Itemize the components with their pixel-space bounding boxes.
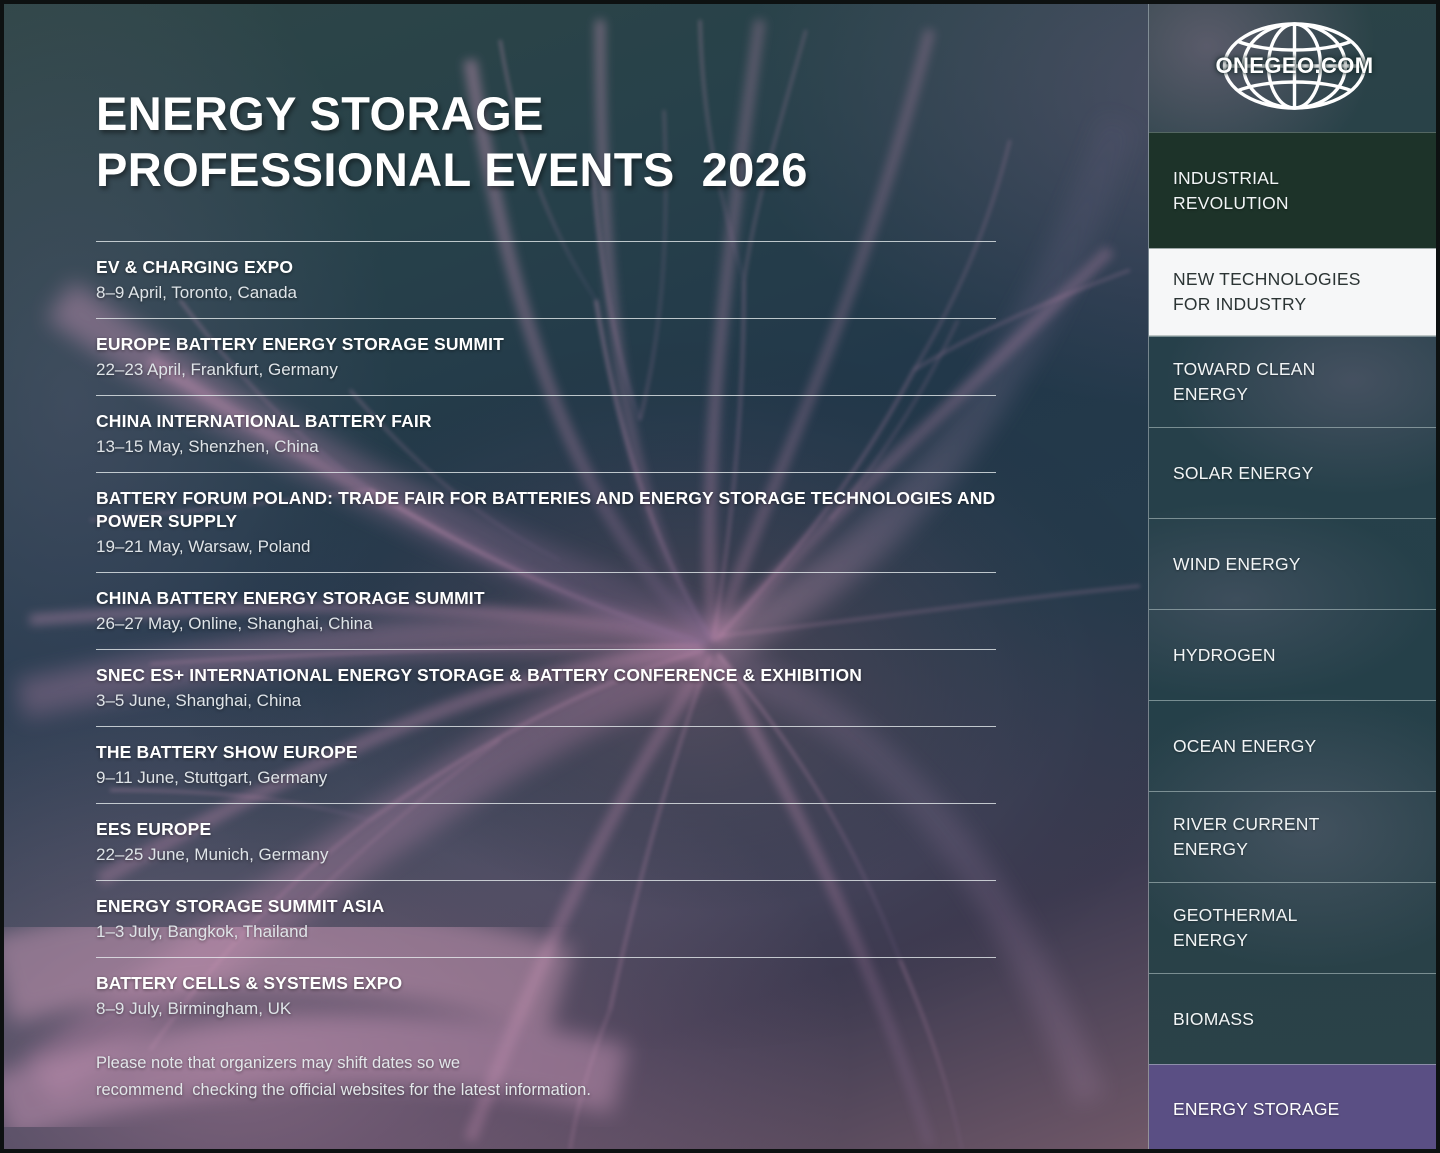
event-name: CHINA INTERNATIONAL BATTERY FAIR xyxy=(96,410,996,433)
event-item[interactable]: BATTERY CELLS & SYSTEMS EXPO 8–9 July, B… xyxy=(96,957,996,1034)
event-date: 8–9 April, Toronto, Canada xyxy=(96,281,996,305)
event-date: 1–3 July, Bangkok, Thailand xyxy=(96,920,996,944)
event-name: EV & CHARGING EXPO xyxy=(96,256,996,279)
event-name: BATTERY FORUM POLAND: TRADE FAIR FOR BAT… xyxy=(96,487,996,533)
disclaimer-note: Please note that organizers may shift da… xyxy=(96,1050,816,1104)
sidebar-nav: INDUSTRIAL REVOLUTION NEW TECHNOLOGIES F… xyxy=(1149,132,1440,1153)
events-list: EV & CHARGING EXPO 8–9 April, Toronto, C… xyxy=(96,241,996,1034)
brand-logo[interactable]: ONEGEO.COM xyxy=(1149,0,1440,132)
sidebar-item-toward-clean-energy[interactable]: TOWARD CLEAN ENERGY xyxy=(1149,336,1440,427)
event-date: 8–9 July, Birmingham, UK xyxy=(96,997,996,1021)
poster-root: ENERGY STORAGE PROFESSIONAL EVENTS 2026 … xyxy=(0,0,1440,1153)
event-item[interactable]: CHINA INTERNATIONAL BATTERY FAIR 13–15 M… xyxy=(96,395,996,472)
event-item[interactable]: SNEC ES+ INTERNATIONAL ENERGY STORAGE & … xyxy=(96,649,996,726)
sidebar-item-solar-energy[interactable]: SOLAR ENERGY xyxy=(1149,427,1440,518)
event-name: BATTERY CELLS & SYSTEMS EXPO xyxy=(96,972,996,995)
event-item[interactable]: EES EUROPE 22–25 June, Munich, Germany xyxy=(96,803,996,880)
sidebar-item-geothermal-energy[interactable]: GEOTHERMAL ENERGY xyxy=(1149,882,1440,973)
page-title-line-1: ENERGY STORAGE xyxy=(96,86,1046,142)
main-content: ENERGY STORAGE PROFESSIONAL EVENTS 2026 … xyxy=(0,0,1148,1153)
sidebar-item-label: OCEAN ENERGY xyxy=(1173,734,1316,759)
event-item[interactable]: THE BATTERY SHOW EUROPE 9–11 June, Stutt… xyxy=(96,726,996,803)
disclaimer-line-2: recommend checking the official websites… xyxy=(96,1077,816,1104)
sidebar-item-label: ENERGY STORAGE xyxy=(1173,1097,1340,1122)
sidebar-item-label: WIND ENERGY xyxy=(1173,552,1301,577)
event-item[interactable]: BATTERY FORUM POLAND: TRADE FAIR FOR BAT… xyxy=(96,472,996,572)
event-item[interactable]: EUROPE BATTERY ENERGY STORAGE SUMMIT 22–… xyxy=(96,318,996,395)
sidebar-item-label: RIVER CURRENT ENERGY xyxy=(1173,812,1320,862)
event-date: 22–25 June, Munich, Germany xyxy=(96,843,996,867)
sidebar-item-hydrogen[interactable]: HYDROGEN xyxy=(1149,609,1440,700)
globe-icon: ONEGEO.COM xyxy=(1207,20,1382,112)
event-name: ENERGY STORAGE SUMMIT ASIA xyxy=(96,895,996,918)
event-name: CHINA BATTERY ENERGY STORAGE SUMMIT xyxy=(96,587,996,610)
sidebar-item-label: INDUSTRIAL REVOLUTION xyxy=(1173,166,1289,216)
sidebar-item-label: GEOTHERMAL ENERGY xyxy=(1173,903,1298,953)
sidebar-item-new-technologies-for-industry[interactable]: NEW TECHNOLOGIES FOR INDUSTRY xyxy=(1149,248,1440,336)
event-date: 19–21 May, Warsaw, Poland xyxy=(96,535,996,559)
sidebar-item-label: NEW TECHNOLOGIES FOR INDUSTRY xyxy=(1173,267,1361,317)
sidebar-item-energy-storage[interactable]: ENERGY STORAGE xyxy=(1149,1064,1440,1153)
event-name: SNEC ES+ INTERNATIONAL ENERGY STORAGE & … xyxy=(96,664,996,687)
sidebar-item-label: BIOMASS xyxy=(1173,1007,1254,1032)
sidebar-item-label: TOWARD CLEAN ENERGY xyxy=(1173,357,1315,407)
event-date: 13–15 May, Shenzhen, China xyxy=(96,435,996,459)
brand-logo-text: ONEGEO.COM xyxy=(1207,53,1382,79)
event-name: EUROPE BATTERY ENERGY STORAGE SUMMIT xyxy=(96,333,996,356)
sidebar-item-wind-energy[interactable]: WIND ENERGY xyxy=(1149,518,1440,609)
event-item[interactable]: ENERGY STORAGE SUMMIT ASIA 1–3 July, Ban… xyxy=(96,880,996,957)
disclaimer-line-1: Please note that organizers may shift da… xyxy=(96,1050,816,1077)
sidebar-item-industrial-revolution[interactable]: INDUSTRIAL REVOLUTION xyxy=(1149,132,1440,248)
sidebar: ONEGEO.COM INDUSTRIAL REVOLUTION NEW TEC… xyxy=(1148,0,1440,1153)
event-date: 26–27 May, Online, Shanghai, China xyxy=(96,612,996,636)
page-title-line-2: PROFESSIONAL EVENTS 2026 xyxy=(96,142,1046,198)
page-title: ENERGY STORAGE PROFESSIONAL EVENTS 2026 xyxy=(96,86,1046,198)
event-name: EES EUROPE xyxy=(96,818,996,841)
sidebar-item-biomass[interactable]: BIOMASS xyxy=(1149,973,1440,1064)
event-item[interactable]: EV & CHARGING EXPO 8–9 April, Toronto, C… xyxy=(96,241,996,318)
event-date: 22–23 April, Frankfurt, Germany xyxy=(96,358,996,382)
sidebar-item-river-current-energy[interactable]: RIVER CURRENT ENERGY xyxy=(1149,791,1440,882)
sidebar-item-label: HYDROGEN xyxy=(1173,643,1276,668)
event-name: THE BATTERY SHOW EUROPE xyxy=(96,741,996,764)
event-date: 3–5 June, Shanghai, China xyxy=(96,689,996,713)
sidebar-item-ocean-energy[interactable]: OCEAN ENERGY xyxy=(1149,700,1440,791)
event-date: 9–11 June, Stuttgart, Germany xyxy=(96,766,996,790)
sidebar-item-label: SOLAR ENERGY xyxy=(1173,461,1314,486)
event-item[interactable]: CHINA BATTERY ENERGY STORAGE SUMMIT 26–2… xyxy=(96,572,996,649)
